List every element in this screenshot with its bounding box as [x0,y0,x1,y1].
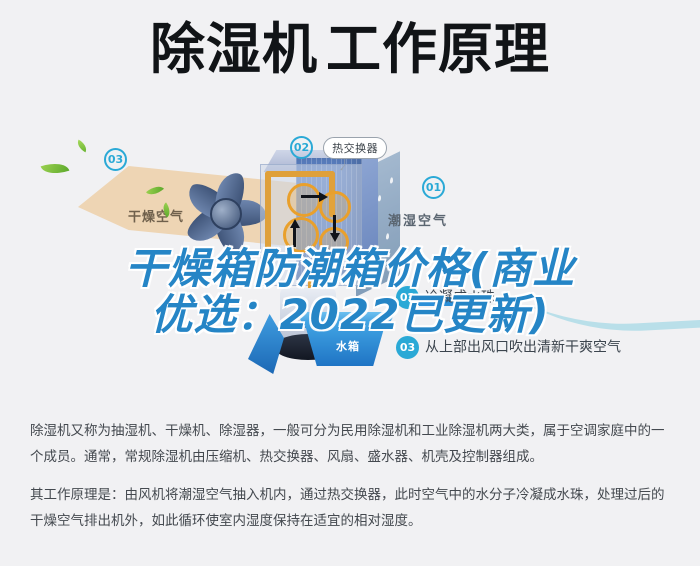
fan-hub [210,198,242,230]
callout-badge-03: 03 [104,148,127,171]
water-tank: 水箱 [292,312,400,374]
note-text-03: 从上部出风口吹出清新干爽空气 [425,340,621,356]
callout-bubble-heat-exchanger: 热交换器 [323,137,387,159]
body-paragraph-2: 其工作原理是：由风机将潮湿空气抽入机内，通过热交换器，此时空气中的水分子冷凝成水… [30,482,676,534]
note-badge-03: 03 [396,336,419,359]
humid-air-label: 潮湿空气 [388,210,448,229]
callout-leader-line [334,154,348,176]
callout-badge-02: 02 [290,136,313,159]
callout-03: 03 [104,148,127,171]
page-root: 除湿机工作原理 干燥空气 [0,0,700,566]
note-03: 03从上部出风口吹出清新干爽空气 [396,336,621,359]
note-02: 02冷凝成水珠 [396,286,495,309]
callout-02: 02 热交换器 [290,136,387,159]
callout-01: 01 [422,176,445,199]
coil-icon [287,183,321,217]
note-text-02: 冷凝成水珠 [425,290,495,306]
leaf-icon [41,158,70,178]
coil-icon [283,217,319,253]
refrigerant-circuit [260,164,362,286]
body-paragraph-1: 除湿机又称为抽湿机、干燥机、除湿器，一般可分为民用除湿机和工业除湿机两大类，属于… [30,418,676,470]
water-tank-label: 水箱 [336,338,360,354]
note-badge-02: 02 [396,286,419,309]
page-title: 除湿机工作原理 [0,22,700,77]
callout-badge-01: 01 [422,176,445,199]
title-part-2: 工作原理 [326,17,550,81]
article-body: 除湿机又称为抽湿机、干燥机、除湿器，一般可分为民用除湿机和工业除湿机两大类，属于… [30,418,676,534]
leaf-icon [75,140,89,153]
dehumidifier-diagram: 干燥空气 [0,118,700,400]
title-part-1: 除湿机 [150,17,318,81]
